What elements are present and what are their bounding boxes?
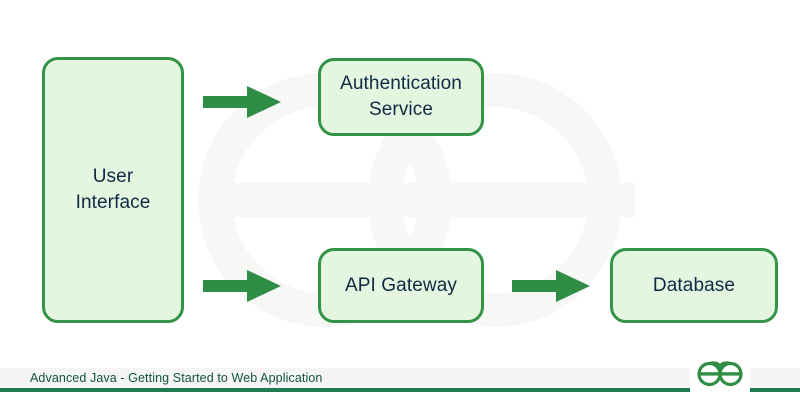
geeksforgeeks-logo: [690, 352, 750, 392]
arrow-icon-user-interface-to-authentication-service: [203, 83, 283, 121]
node-database-label: Database: [645, 273, 743, 299]
node-database[interactable]: Database: [610, 248, 778, 323]
node-api-gateway[interactable]: API Gateway: [318, 248, 484, 323]
arrow-icon-user-interface-to-api-gateway: [203, 267, 283, 305]
node-user-interface-label: User Interface: [68, 164, 159, 215]
node-user-interface[interactable]: User Interface: [42, 57, 184, 323]
arrow-icon-api-gateway-to-database: [512, 267, 592, 305]
node-api-gateway-label: API Gateway: [337, 273, 465, 299]
diagram-canvas: User Interface Authentication Service AP…: [0, 0, 800, 400]
node-authentication-service[interactable]: Authentication Service: [318, 58, 484, 136]
footer-caption: Advanced Java - Getting Started to Web A…: [30, 368, 322, 389]
node-authentication-service-label: Authentication Service: [332, 71, 470, 122]
